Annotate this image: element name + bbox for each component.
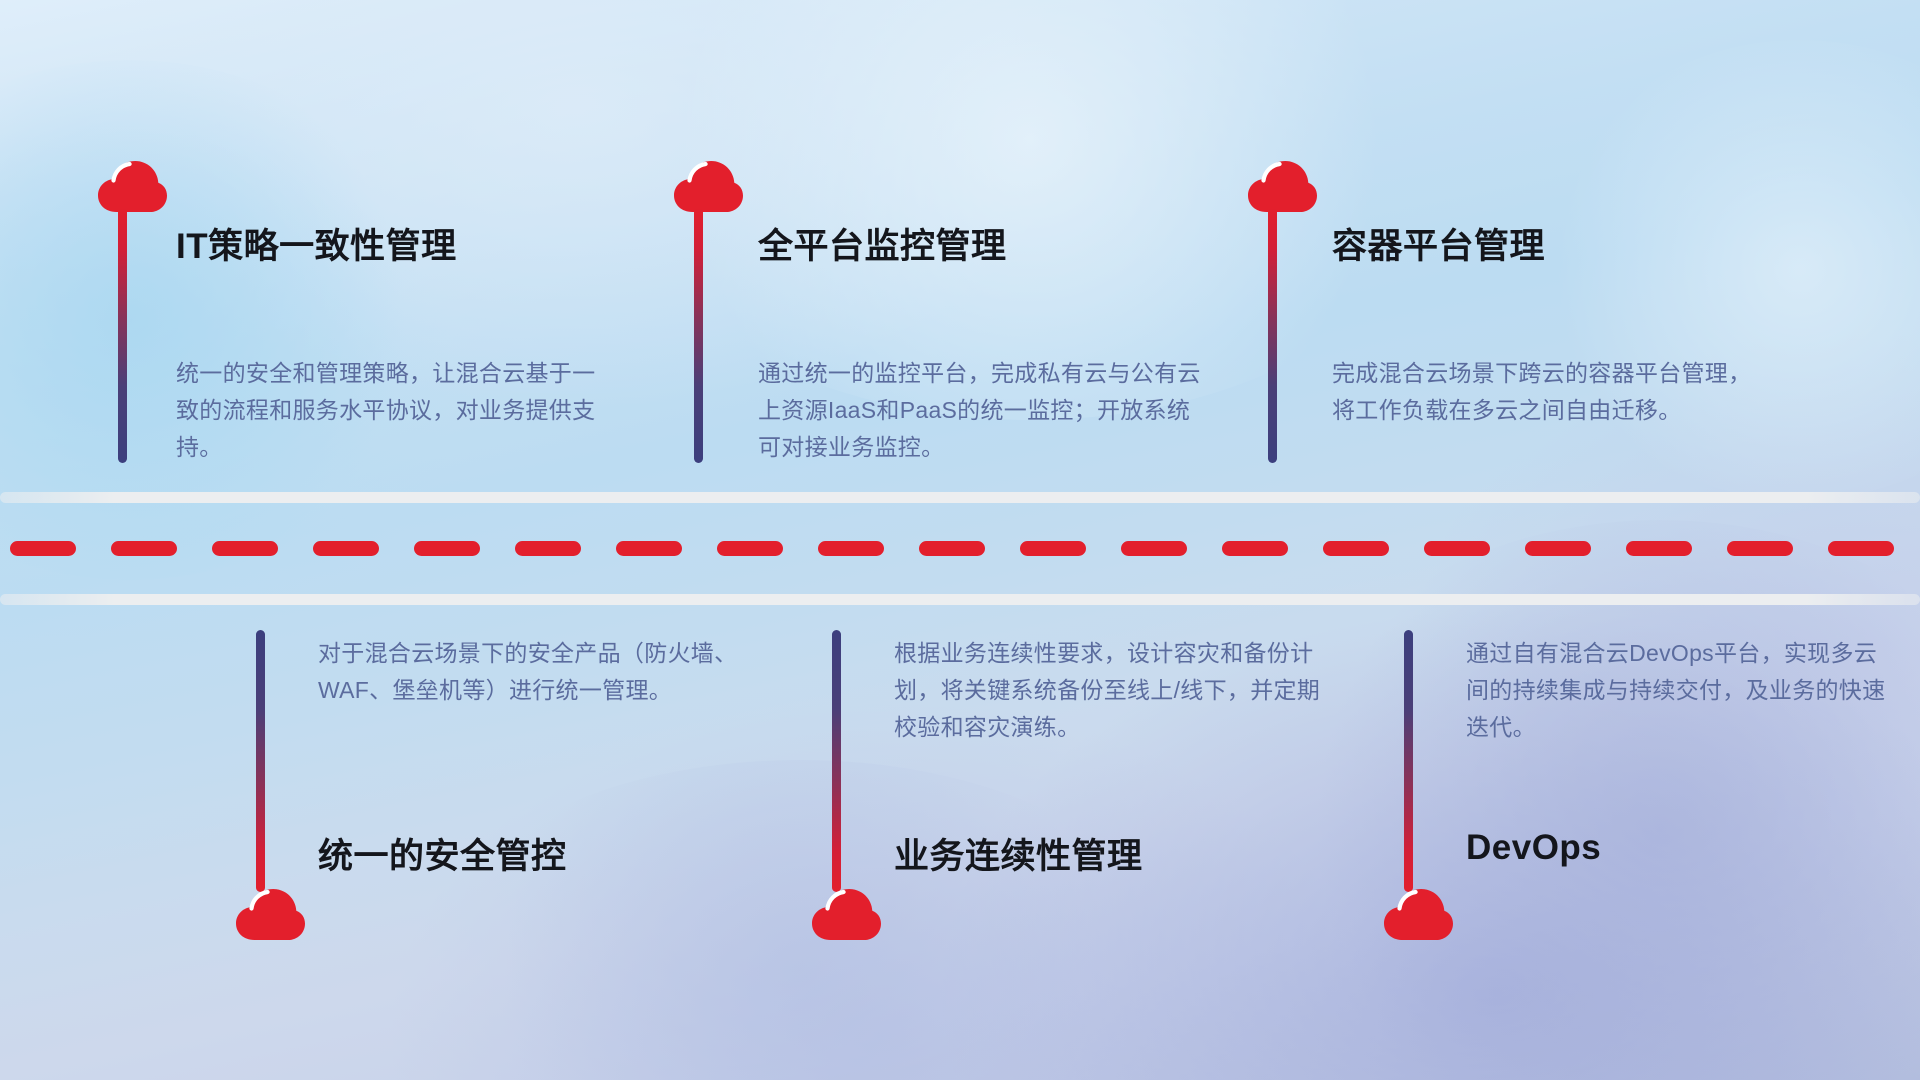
card-title: 业务连续性管理 bbox=[894, 828, 1143, 879]
connector-line bbox=[1404, 630, 1413, 892]
connector-line bbox=[256, 630, 265, 892]
card-description: 根据业务连续性要求，设计容灾和备份计划，将关键系统备份至线上/线下，并定期校验和… bbox=[894, 635, 1324, 746]
divider-bar-bottom bbox=[0, 594, 1920, 605]
cloud-icon bbox=[1382, 888, 1454, 942]
dash-segment bbox=[1727, 541, 1793, 556]
dash-segment bbox=[919, 541, 985, 556]
dash-segment bbox=[1222, 541, 1288, 556]
dash-segment bbox=[212, 541, 278, 556]
dash-segment bbox=[1020, 541, 1086, 556]
divider-bar-top bbox=[0, 492, 1920, 503]
cloud-icon bbox=[1246, 160, 1318, 214]
card-title: 统一的安全管控 bbox=[318, 828, 567, 879]
connector-line bbox=[118, 208, 127, 463]
cloud-icon bbox=[810, 888, 882, 942]
card-title: DevOps bbox=[1466, 828, 1601, 868]
connector-line bbox=[832, 630, 841, 892]
dash-segment bbox=[1525, 541, 1591, 556]
dash-segment bbox=[1121, 541, 1187, 556]
connector-line bbox=[1268, 208, 1277, 463]
dashed-separator bbox=[0, 540, 1920, 556]
dash-segment bbox=[10, 541, 76, 556]
card-title: IT策略一致性管理 bbox=[176, 218, 457, 269]
card-description: 完成混合云场景下跨云的容器平台管理，将工作负载在多云之间自由迁移。 bbox=[1332, 355, 1762, 429]
card-title: 容器平台管理 bbox=[1332, 218, 1545, 269]
cloud-icon bbox=[234, 888, 306, 942]
card-description: 通过统一的监控平台，完成私有云与公有云上资源IaaS和PaaS的统一监控；开放系… bbox=[758, 355, 1208, 466]
dash-segment bbox=[616, 541, 682, 556]
dash-segment bbox=[1323, 541, 1389, 556]
card-description: 通过自有混合云DevOps平台，实现多云间的持续集成与持续交付，及业务的快速迭代… bbox=[1466, 635, 1896, 746]
dash-segment bbox=[111, 541, 177, 556]
cloud-icon bbox=[672, 160, 744, 214]
connector-line bbox=[694, 208, 703, 463]
card-title: 全平台监控管理 bbox=[758, 218, 1007, 269]
card-description: 统一的安全和管理策略，让混合云基于一致的流程和服务水平协议，对业务提供支持。 bbox=[176, 355, 606, 466]
cloud-icon bbox=[96, 160, 168, 214]
dash-segment bbox=[1828, 541, 1894, 556]
background-glow-bottom bbox=[420, 760, 1180, 1080]
background-glow-top-right bbox=[1540, 40, 1920, 500]
card-description: 对于混合云场景下的安全产品（防火墙、WAF、堡垒机等）进行统一管理。 bbox=[318, 635, 748, 709]
dash-segment bbox=[515, 541, 581, 556]
dash-segment bbox=[717, 541, 783, 556]
dash-segment bbox=[1626, 541, 1692, 556]
dash-segment bbox=[818, 541, 884, 556]
dash-segment bbox=[1424, 541, 1490, 556]
dash-segment bbox=[414, 541, 480, 556]
infographic-canvas: IT策略一致性管理 统一的安全和管理策略，让混合云基于一致的流程和服务水平协议，… bbox=[0, 0, 1920, 1080]
dash-segment bbox=[313, 541, 379, 556]
